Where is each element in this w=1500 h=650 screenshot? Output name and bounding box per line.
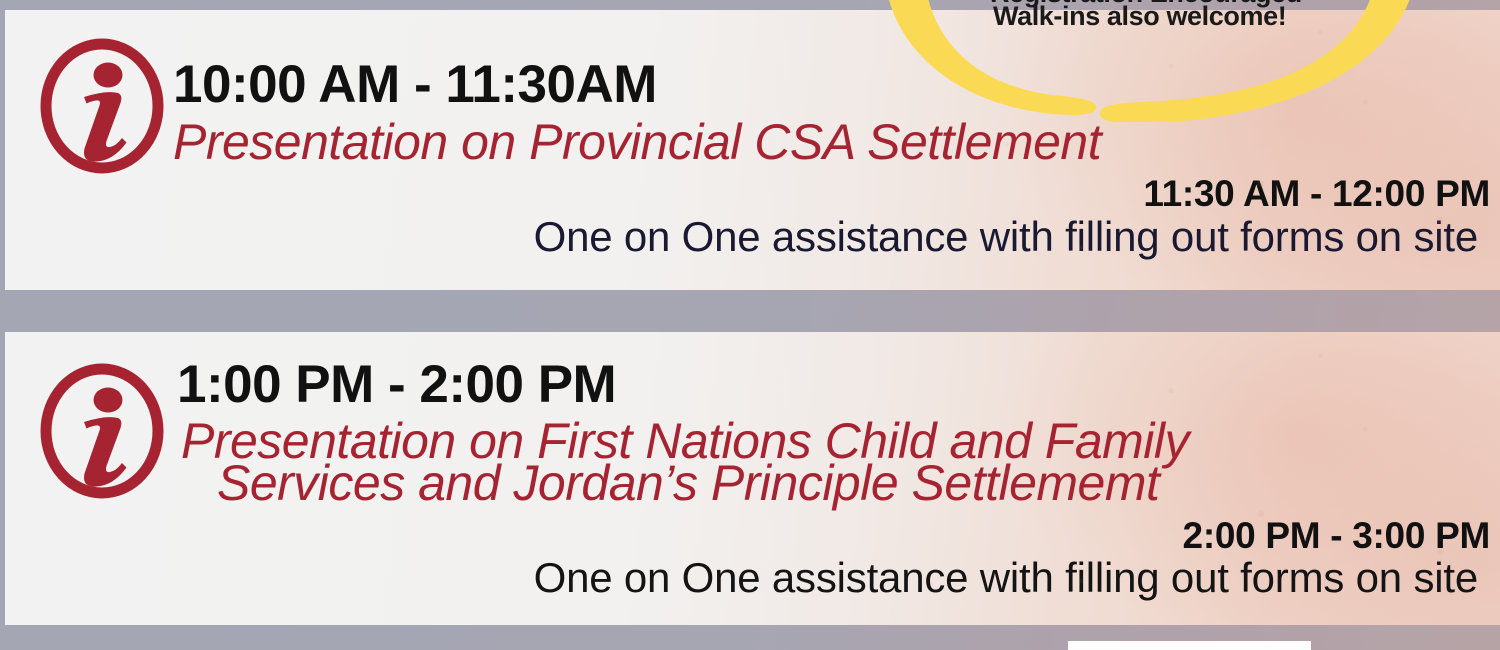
registration-note-line-2: Walk-ins also welcome!: [993, 1, 1286, 32]
session-description-line-2: Services and Jordan’s Principle Settleme…: [217, 454, 1159, 512]
session-time-primary: 1:00 PM - 2:00 PM: [177, 354, 616, 415]
session-time-secondary: 11:30 AM - 12:00 PM: [1143, 173, 1490, 215]
session-assistance-note: One on One assistance with filling out f…: [534, 213, 1478, 261]
poster-canvas: 10:00 AM - 11:30AM Presentation on Provi…: [0, 0, 1500, 650]
session-description: Presentation on Provincial CSA Settlemen…: [173, 113, 1101, 171]
schedule-panel-morning: 10:00 AM - 11:30AM Presentation on Provi…: [5, 10, 1500, 290]
info-icon: [37, 35, 167, 177]
bottom-card-sliver: [1068, 641, 1311, 650]
session-assistance-note: One on One assistance with filling out f…: [534, 554, 1478, 602]
info-icon: [37, 360, 167, 502]
session-time-secondary: 2:00 PM - 3:00 PM: [1183, 515, 1490, 557]
session-time-primary: 10:00 AM - 11:30AM: [173, 54, 657, 115]
schedule-panel-afternoon: 1:00 PM - 2:00 PM Presentation on First …: [5, 332, 1500, 625]
